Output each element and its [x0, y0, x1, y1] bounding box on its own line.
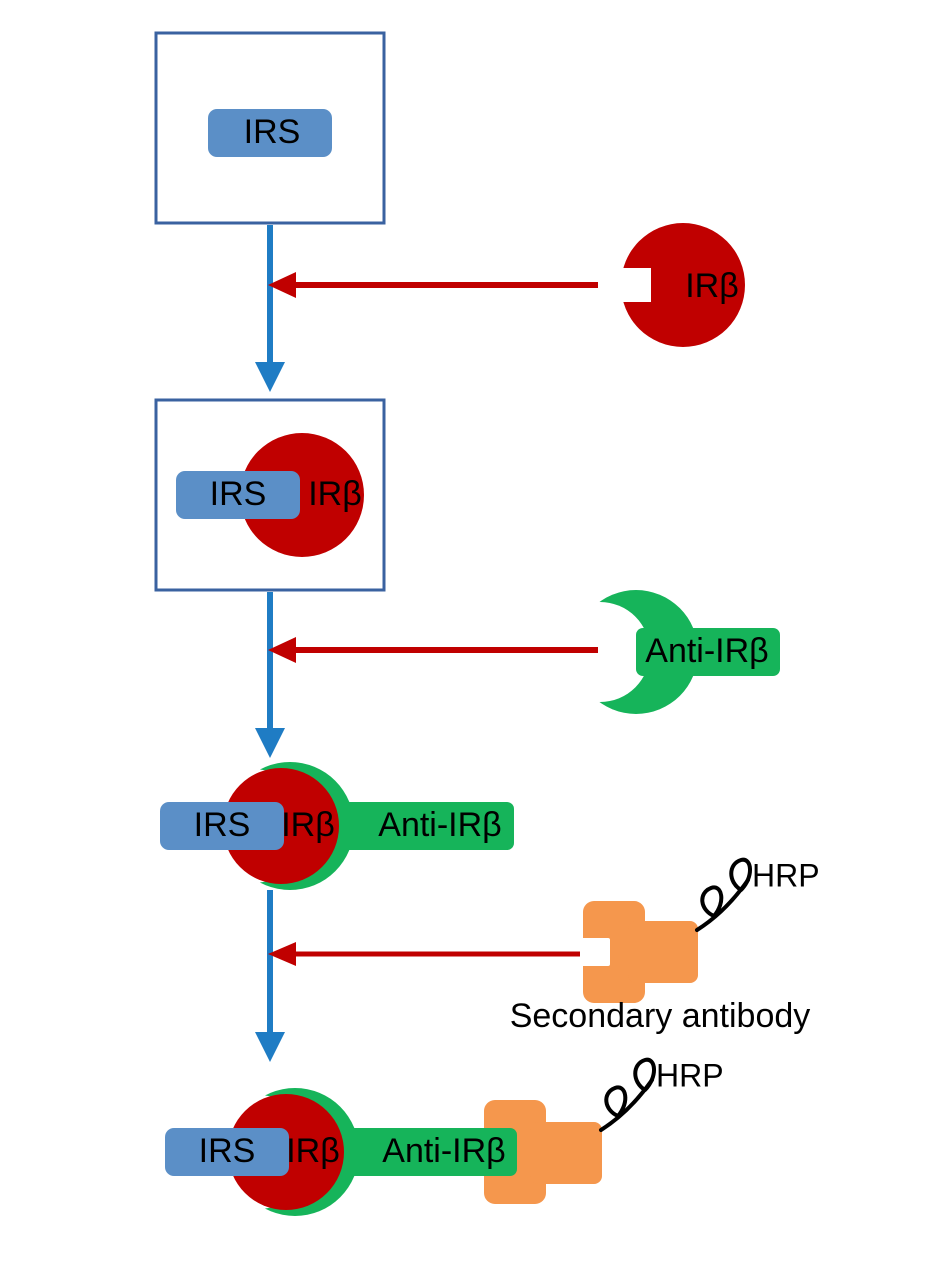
hrp-label-reagent: HRP: [752, 857, 820, 893]
stage-4-group: HRP IRS IRβ Anti-IRβ: [165, 1057, 724, 1216]
irbeta-reagent-label: IRβ: [685, 267, 739, 305]
hrp-label-final: HRP: [656, 1057, 724, 1093]
stage-2-group: IRS IRβ: [156, 400, 384, 590]
irbeta-label-3: IRβ: [281, 806, 335, 844]
hrp-leaf-lower-final: [606, 1087, 625, 1116]
hrp-leaf-upper: [731, 860, 750, 890]
irs-label-3: IRS: [194, 806, 251, 844]
anti-irbeta-reagent: Anti-IRβ: [574, 590, 780, 714]
anti-irbeta-label-4: Anti-IRβ: [382, 1132, 505, 1170]
diagram-canvas: IRS IRβ IRS IRβ: [0, 0, 934, 1272]
irbeta-label-2: IRβ: [308, 475, 362, 513]
irs-label-2: IRS: [210, 475, 267, 513]
hrp-leaf-lower: [702, 887, 721, 916]
irs-label-1: IRS: [244, 113, 301, 151]
irs-label-4: IRS: [199, 1132, 256, 1170]
flow-arrow-2: [255, 592, 285, 758]
add-secondary-antibody-arrow: [268, 942, 580, 966]
stage-3-group: IRS IRβ Anti-IRβ: [160, 762, 514, 890]
diagram-svg: IRS IRβ IRS IRβ: [0, 0, 934, 1272]
flow-arrow-3: [255, 890, 285, 1062]
anti-irbeta-label-3: Anti-IRβ: [378, 806, 501, 844]
hrp-leaf-upper-final: [635, 1060, 654, 1090]
irbeta-label-4: IRβ: [286, 1132, 340, 1170]
secondary-antibody-reagent: HRP Secondary antibody: [510, 857, 820, 1035]
secondary-antibody-caption: Secondary antibody: [510, 997, 811, 1035]
anti-irbeta-reagent-label: Anti-IRβ: [645, 632, 768, 670]
add-irbeta-arrow: [268, 272, 598, 298]
stage-1-group: IRS: [156, 33, 384, 223]
irbeta-reagent: IRβ: [601, 223, 745, 347]
flow-arrow-1: [255, 225, 285, 392]
add-anti-irbeta-arrow: [268, 637, 598, 663]
